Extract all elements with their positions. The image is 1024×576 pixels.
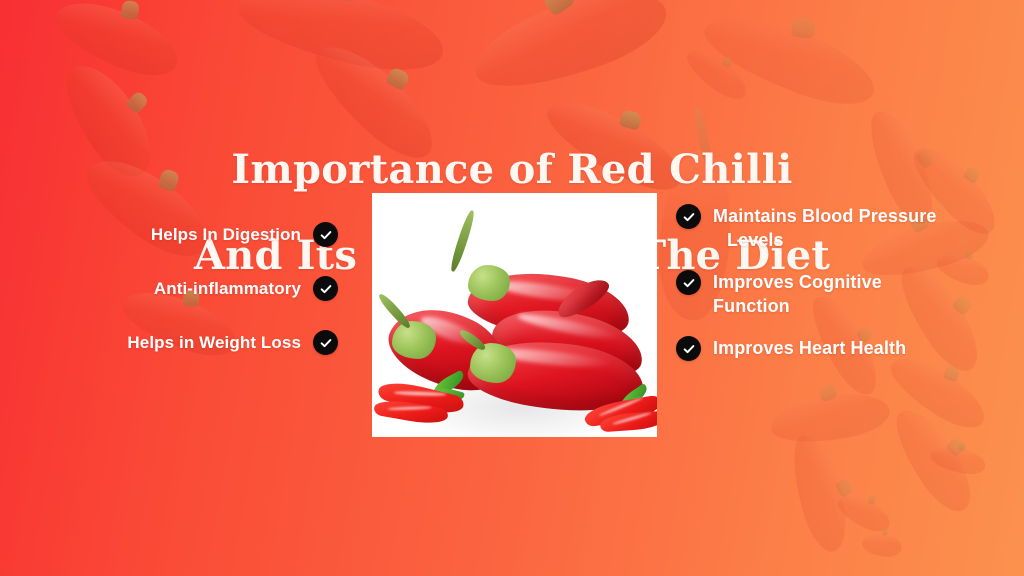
chilli-silhouette-icon bbox=[785, 430, 855, 557]
check-circle-icon[interactable] bbox=[676, 270, 701, 295]
chilli-silhouette-icon bbox=[681, 41, 753, 106]
benefit-item-improves-cognitive-function[interactable]: Improves CognitiveFunction bbox=[676, 270, 1006, 318]
chilli-silhouette-icon bbox=[885, 399, 984, 521]
benefit-label: Helps In Digestion bbox=[151, 222, 313, 247]
chilli-silhouette-icon bbox=[833, 488, 895, 537]
chilli-silhouette-icon bbox=[860, 531, 903, 560]
benefit-label: Improves CognitiveFunction bbox=[701, 270, 882, 318]
check-circle-icon[interactable] bbox=[313, 276, 338, 301]
benefit-item-improves-heart-health[interactable]: Improves Heart Health bbox=[676, 336, 1006, 361]
chilli-silhouette-icon bbox=[768, 388, 893, 448]
chilli-peppers-photo bbox=[372, 193, 657, 437]
chilli-silhouette-icon bbox=[696, 0, 885, 120]
chilli-silhouette-icon bbox=[231, 0, 451, 84]
benefit-label: Maintains Blood PressureLevels bbox=[701, 204, 936, 252]
check-circle-icon[interactable] bbox=[313, 222, 338, 247]
benefit-label-line-2: Levels bbox=[713, 228, 936, 252]
benefit-item-helps-in-weight-loss[interactable]: Helps in Weight Loss bbox=[40, 330, 338, 355]
benefits-list-right: Maintains Blood PressureLevels Improves … bbox=[676, 204, 1006, 379]
benefit-label: Anti-inflammatory bbox=[154, 276, 313, 301]
pepper-cap-front bbox=[470, 343, 516, 383]
benefit-label: Improves Heart Health bbox=[701, 336, 906, 360]
chilli-silhouette-icon bbox=[464, 0, 676, 103]
check-circle-icon[interactable] bbox=[676, 336, 701, 361]
pepper-cap-back bbox=[468, 265, 510, 301]
benefit-label-line-1: Improves Cognitive bbox=[713, 272, 882, 292]
check-circle-icon[interactable] bbox=[313, 330, 338, 355]
benefits-list-left: Helps In Digestion Anti-inflammatory Hel… bbox=[40, 222, 338, 384]
chilli-illustration-right-2 bbox=[599, 411, 657, 433]
benefit-item-maintains-blood-pressure-levels[interactable]: Maintains Blood PressureLevels bbox=[676, 204, 1006, 252]
benefit-item-helps-in-digestion[interactable]: Helps In Digestion bbox=[40, 222, 338, 247]
poster-canvas: Importance of Red Chilli And Its Benefit… bbox=[0, 0, 1024, 576]
benefit-item-anti-inflammatory[interactable]: Anti-inflammatory bbox=[40, 276, 338, 301]
benefit-label-line-2: Function bbox=[713, 294, 882, 318]
check-circle-icon[interactable] bbox=[676, 204, 701, 229]
photo-image-content bbox=[372, 193, 657, 437]
chilli-silhouette-icon bbox=[47, 0, 187, 88]
benefit-label-line-1: Maintains Blood Pressure bbox=[713, 206, 936, 226]
benefit-label: Helps in Weight Loss bbox=[127, 330, 313, 355]
pepper-cap-left bbox=[392, 321, 436, 359]
page-title-line-1: Importance of Red Chilli bbox=[0, 148, 1024, 191]
chilli-silhouette-icon bbox=[928, 442, 988, 479]
